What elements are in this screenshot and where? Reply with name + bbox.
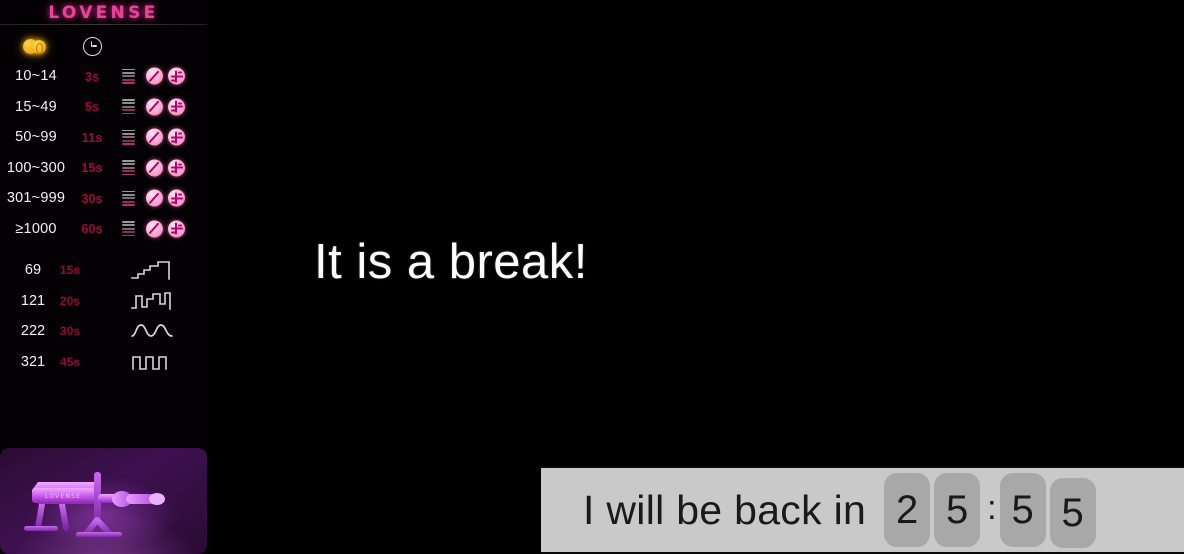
table-row[interactable]: 15~49 5s bbox=[0, 92, 207, 123]
list-item[interactable]: 222 30s bbox=[0, 316, 207, 347]
sidebar: LOVENSE 10~14 3s bbox=[0, 0, 207, 554]
no-entry-icon[interactable] bbox=[146, 159, 163, 176]
tip-duration: 11s bbox=[68, 122, 116, 153]
signal-bars-icon bbox=[117, 183, 139, 214]
countdown-minutes-tens: 2 bbox=[884, 473, 930, 547]
brand-logo: LOVENSE bbox=[0, 0, 207, 24]
table-row[interactable]: 50~99 11s bbox=[0, 122, 207, 153]
tip-duration: 15s bbox=[68, 153, 116, 184]
duration-header-cell bbox=[66, 31, 118, 61]
list-item[interactable]: 69 15s bbox=[0, 255, 207, 286]
countdown-seconds-ones: 5 bbox=[1050, 478, 1096, 548]
tip-table-header bbox=[0, 31, 207, 61]
signal-bars-icon bbox=[117, 122, 139, 153]
tip-range: 10~14 bbox=[0, 61, 72, 92]
no-entry-icon[interactable] bbox=[146, 129, 163, 146]
tip-range: ≥1000 bbox=[0, 214, 72, 245]
logo-divider bbox=[0, 24, 207, 25]
no-entry-icon[interactable] bbox=[146, 68, 163, 85]
tip-duration: 30s bbox=[68, 183, 116, 214]
signal-bars-icon bbox=[117, 61, 139, 92]
fireworks-wave-icon bbox=[124, 286, 182, 317]
tip-range: 301~999 bbox=[0, 183, 72, 214]
countdown-banner: I will be back in 2 5 : 5 5 bbox=[541, 466, 1184, 554]
coins-icon bbox=[23, 37, 49, 55]
countdown-seconds-tens: 5 bbox=[1000, 473, 1046, 547]
signal-bars-icon bbox=[117, 214, 139, 245]
pattern-table: 69 15s 121 20s 222 30s bbox=[0, 255, 207, 377]
stream-overlay-screen: LOVENSE 10~14 3s bbox=[0, 0, 1184, 554]
sex-machine-icon[interactable] bbox=[168, 129, 185, 146]
list-item[interactable]: 321 45s bbox=[0, 347, 207, 378]
signal-bars-icon bbox=[117, 153, 139, 184]
tip-duration: 60s bbox=[68, 214, 116, 245]
table-row[interactable]: ≥1000 60s bbox=[0, 214, 207, 245]
sex-machine-icon[interactable] bbox=[168, 159, 185, 176]
sex-machine-icon[interactable] bbox=[168, 98, 185, 115]
tip-range: 50~99 bbox=[0, 122, 72, 153]
table-row[interactable]: 301~999 30s bbox=[0, 183, 207, 214]
no-entry-icon[interactable] bbox=[146, 220, 163, 237]
clock-icon bbox=[83, 37, 102, 56]
pulse-wave-icon bbox=[124, 347, 182, 378]
no-entry-icon[interactable] bbox=[146, 98, 163, 115]
signal-bars-icon bbox=[117, 92, 139, 123]
sine-wave-icon bbox=[124, 316, 182, 347]
tip-duration: 3s bbox=[68, 61, 116, 92]
tip-duration: 5s bbox=[68, 92, 116, 123]
pattern-duration: 20s bbox=[46, 286, 94, 317]
tip-range: 15~49 bbox=[0, 92, 72, 123]
pattern-duration: 30s bbox=[46, 316, 94, 347]
svg-text:LOVENSE: LOVENSE bbox=[45, 493, 81, 500]
pattern-duration: 15s bbox=[46, 255, 94, 286]
tip-range: 100~300 bbox=[0, 153, 72, 184]
sex-machine-icon[interactable] bbox=[168, 220, 185, 237]
sex-machine-product-image: LOVENSE bbox=[18, 464, 190, 540]
no-entry-icon[interactable] bbox=[146, 190, 163, 207]
countdown-minutes-ones: 5 bbox=[934, 473, 980, 547]
sex-machine-icon[interactable] bbox=[168, 68, 185, 85]
table-row[interactable]: 100~300 15s bbox=[0, 153, 207, 184]
countdown-timer: 2 5 : 5 5 bbox=[884, 472, 1099, 548]
tip-level-table: 10~14 3s 15~49 5s 50~99 11s bbox=[0, 61, 207, 244]
list-item[interactable]: 121 20s bbox=[0, 286, 207, 317]
staircase-wave-icon bbox=[124, 255, 182, 286]
coins-header-cell bbox=[8, 31, 64, 61]
brand-logo-text: LOVENSE bbox=[48, 3, 158, 22]
table-row[interactable]: 10~14 3s bbox=[0, 61, 207, 92]
lovense-machine-ad[interactable]: LOVENSE bbox=[0, 448, 207, 554]
break-message: It is a break! bbox=[314, 238, 588, 287]
countdown-label: I will be back in bbox=[583, 487, 866, 534]
pattern-duration: 45s bbox=[46, 347, 94, 378]
countdown-separator: : bbox=[984, 489, 999, 532]
sex-machine-icon[interactable] bbox=[168, 190, 185, 207]
